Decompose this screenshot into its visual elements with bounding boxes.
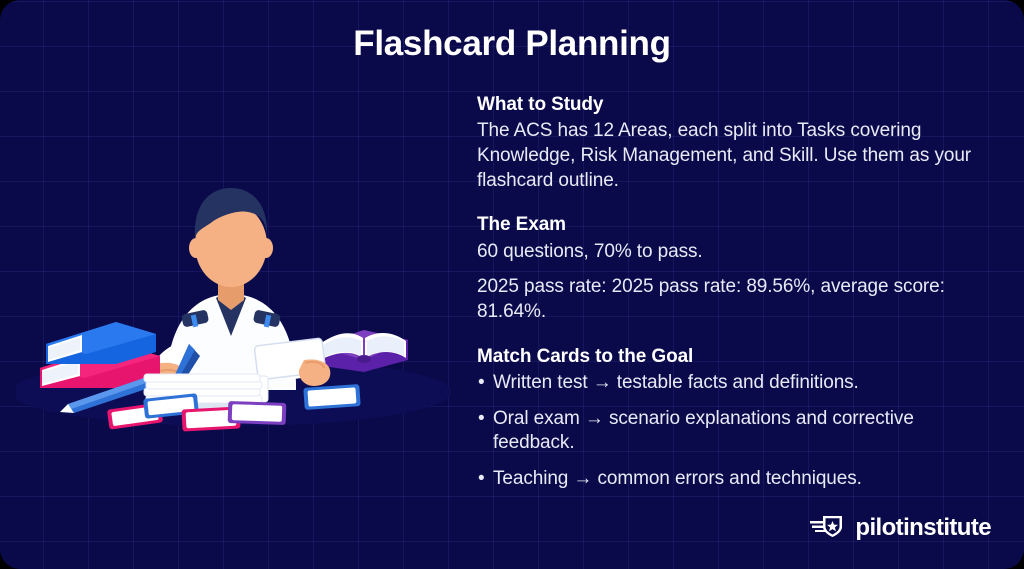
list-item: • Teaching → common errors and technique…: [477, 467, 977, 492]
bullet-list: • Written test → testable facts and defi…: [477, 371, 977, 492]
book-stack-icon: [40, 322, 160, 388]
bullet-icon: •: [478, 407, 485, 432]
list-item: • Oral exam → scenario explanations and …: [477, 407, 977, 456]
page-title: Flashcard Planning: [0, 24, 1024, 64]
infographic-card: Flashcard Planning: [0, 0, 1024, 569]
section-paragraph: The ACS has 12 Areas, each split into Ta…: [477, 119, 977, 193]
section-match-cards-to-the-goal: Match Cards to the Goal • Written test →…: [477, 345, 977, 492]
list-item-label: Teaching → common errors and techniques.: [493, 468, 862, 489]
illustration-pilot-studying: [16, 160, 456, 440]
section-paragraph: 60 questions, 70% to pass.: [477, 240, 977, 265]
bullet-icon: •: [478, 467, 485, 492]
section-the-exam: The Exam 60 questions, 70% to pass. 2025…: [477, 213, 977, 324]
winged-shield-star-icon: [810, 512, 846, 543]
list-item-label: Written test → testable facts and defini…: [493, 372, 859, 393]
section-what-to-study: What to Study The ACS has 12 Areas, each…: [477, 93, 977, 193]
list-item-label: Oral exam → scenario explanations and co…: [493, 408, 914, 454]
illustration-svg: [16, 160, 456, 440]
section-heading: What to Study: [477, 93, 977, 117]
open-book-icon: [316, 330, 408, 372]
brand-logo: pilotinstitute: [810, 512, 991, 543]
brand-wordmark: pilotinstitute: [855, 514, 991, 542]
content-column: What to Study The ACS has 12 Areas, each…: [477, 93, 977, 492]
bullet-icon: •: [478, 371, 485, 396]
section-heading: Match Cards to the Goal: [477, 345, 977, 369]
section-paragraph: 2025 pass rate: 2025 pass rate: 89.56%, …: [477, 275, 977, 324]
section-heading: The Exam: [477, 213, 977, 237]
list-item: • Written test → testable facts and defi…: [477, 371, 977, 396]
